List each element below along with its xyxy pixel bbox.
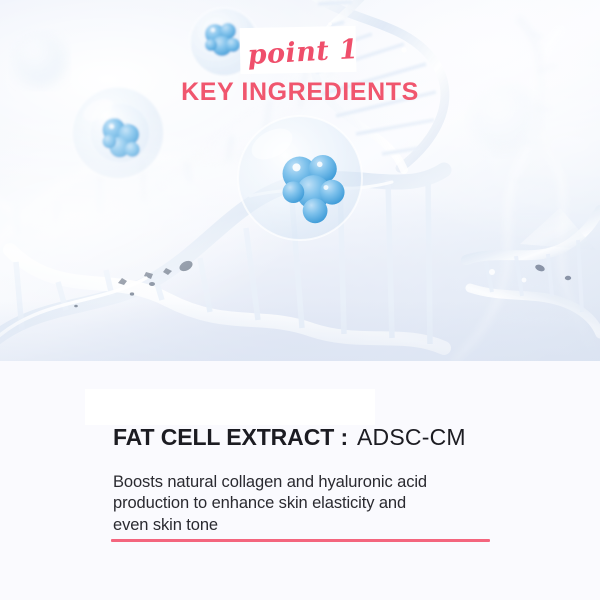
helix-foreground-bottom bbox=[0, 170, 444, 352]
description-line-1: Boosts natural collagen and hyaluronic a… bbox=[113, 472, 513, 493]
point-label: point 1 bbox=[243, 29, 363, 76]
ingredient-description: Boosts natural collagen and hyaluronic a… bbox=[113, 472, 513, 536]
cell-sphere-center-main bbox=[238, 116, 362, 240]
description-line-3: even skin tone bbox=[113, 515, 513, 536]
section-title-key-ingredients: KEY INGREDIENTS bbox=[0, 78, 600, 107]
ingredient-heading-label: FAT CELL EXTRACT : bbox=[113, 424, 348, 450]
ingredient-heading-value: ADSC-CM bbox=[357, 424, 466, 450]
description-line-2: production to enhance skin elasticity an… bbox=[113, 493, 513, 514]
blank-white-box bbox=[85, 389, 375, 425]
product-info-page: point 1 KEY INGREDIENTS FAT CELL EXTRACT… bbox=[0, 0, 600, 600]
ingredient-heading: FAT CELL EXTRACT :ADSC-CM bbox=[113, 424, 573, 451]
accent-divider bbox=[111, 539, 490, 542]
